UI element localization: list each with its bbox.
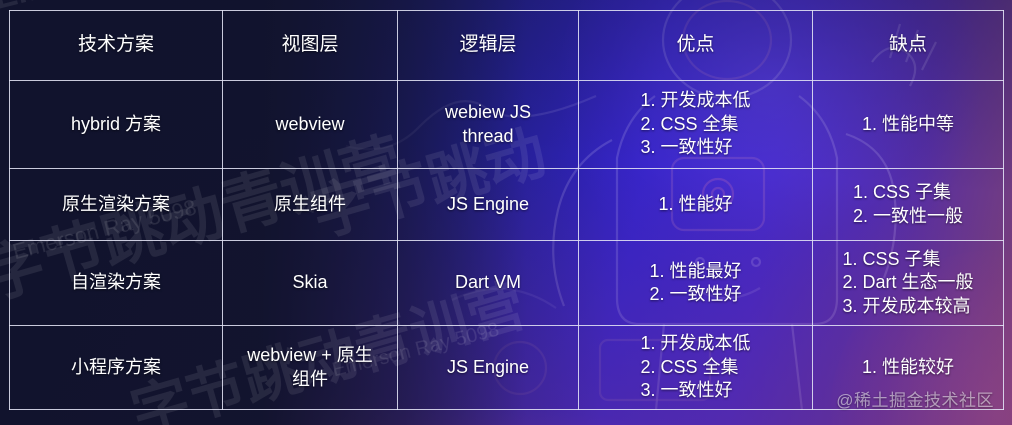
cell-logic-layer: JS Engine [398, 169, 579, 241]
pro-item: 1. 性能好 [658, 194, 732, 214]
cell-logic-layer: webiew JS thread [398, 81, 579, 169]
table-row: 原生渲染方案 原生组件 JS Engine 1. 性能好 1. CSS 子集 2… [10, 169, 1004, 241]
pro-item: 1. 性能最好 [649, 261, 741, 281]
cell-view-layer: 原生组件 [223, 169, 398, 241]
cell-cons: 1. CSS 子集 2. Dart 生态一般 3. 开发成本较高 [813, 241, 1004, 326]
view-layer-line: 组件 [292, 369, 328, 389]
con-item: 1. 性能较好 [862, 357, 954, 377]
con-item: 1. CSS 子集 [842, 249, 940, 269]
logic-layer-line: thread [462, 126, 513, 146]
cell-logic-layer: Dart VM [398, 241, 579, 326]
column-header-cons: 缺点 [813, 11, 1004, 81]
con-item: 1. CSS 子集 [853, 182, 951, 202]
column-header-view-layer: 视图层 [223, 11, 398, 81]
table-row: 自渲染方案 Skia Dart VM 1. 性能最好 2. 一致性好 1. CS… [10, 241, 1004, 326]
pro-item: 1. 开发成本低 [640, 90, 750, 110]
table-row: hybrid 方案 webview webiew JS thread 1. 开发… [10, 81, 1004, 169]
pro-item: 3. 一致性好 [640, 137, 732, 157]
con-item: 2. 一致性一般 [853, 206, 963, 226]
cell-pros: 1. 开发成本低 2. CSS 全集 3. 一致性好 [579, 81, 813, 169]
cell-pros: 1. 性能最好 2. 一致性好 [579, 241, 813, 326]
cell-logic-layer: JS Engine [398, 326, 579, 410]
cell-solution: hybrid 方案 [10, 81, 223, 169]
slide-canvas: 字节跳动青训营 Emerson Ray 5098 字节跳动青训营 字节跳动 Em… [0, 0, 1012, 425]
cell-view-layer: webview [223, 81, 398, 169]
cell-pros: 1. 开发成本低 2. CSS 全集 3. 一致性好 [579, 326, 813, 410]
cell-solution: 自渲染方案 [10, 241, 223, 326]
table-row: 小程序方案 webview + 原生 组件 JS Engine 1. 开发成本低… [10, 326, 1004, 410]
cell-cons: 1. CSS 子集 2. 一致性一般 [813, 169, 1004, 241]
column-header-pros: 优点 [579, 11, 813, 81]
view-layer-line: webview + 原生 [247, 345, 373, 365]
logic-layer-line: webiew JS [445, 102, 531, 122]
cell-solution: 小程序方案 [10, 326, 223, 410]
cell-pros: 1. 性能好 [579, 169, 813, 241]
pro-item: 2. 一致性好 [649, 284, 741, 304]
pro-item: 2. CSS 全集 [640, 357, 738, 377]
con-item: 3. 开发成本较高 [842, 296, 970, 316]
cell-solution: 原生渲染方案 [10, 169, 223, 241]
cell-cons: 1. 性能较好 [813, 326, 1004, 410]
column-header-logic-layer: 逻辑层 [398, 11, 579, 81]
pro-item: 2. CSS 全集 [640, 114, 738, 134]
cell-cons: 1. 性能中等 [813, 81, 1004, 169]
comparison-table-container: 技术方案 视图层 逻辑层 优点 缺点 hybrid 方案 webview web… [9, 10, 1003, 409]
column-header-solution: 技术方案 [10, 11, 223, 81]
comparison-table: 技术方案 视图层 逻辑层 优点 缺点 hybrid 方案 webview web… [9, 10, 1004, 410]
cell-view-layer: Skia [223, 241, 398, 326]
cell-view-layer: webview + 原生 组件 [223, 326, 398, 410]
con-item: 2. Dart 生态一般 [842, 272, 973, 292]
pro-item: 1. 开发成本低 [640, 333, 750, 353]
table-header-row: 技术方案 视图层 逻辑层 优点 缺点 [10, 11, 1004, 81]
con-item: 1. 性能中等 [862, 114, 954, 134]
pro-item: 3. 一致性好 [640, 380, 732, 400]
